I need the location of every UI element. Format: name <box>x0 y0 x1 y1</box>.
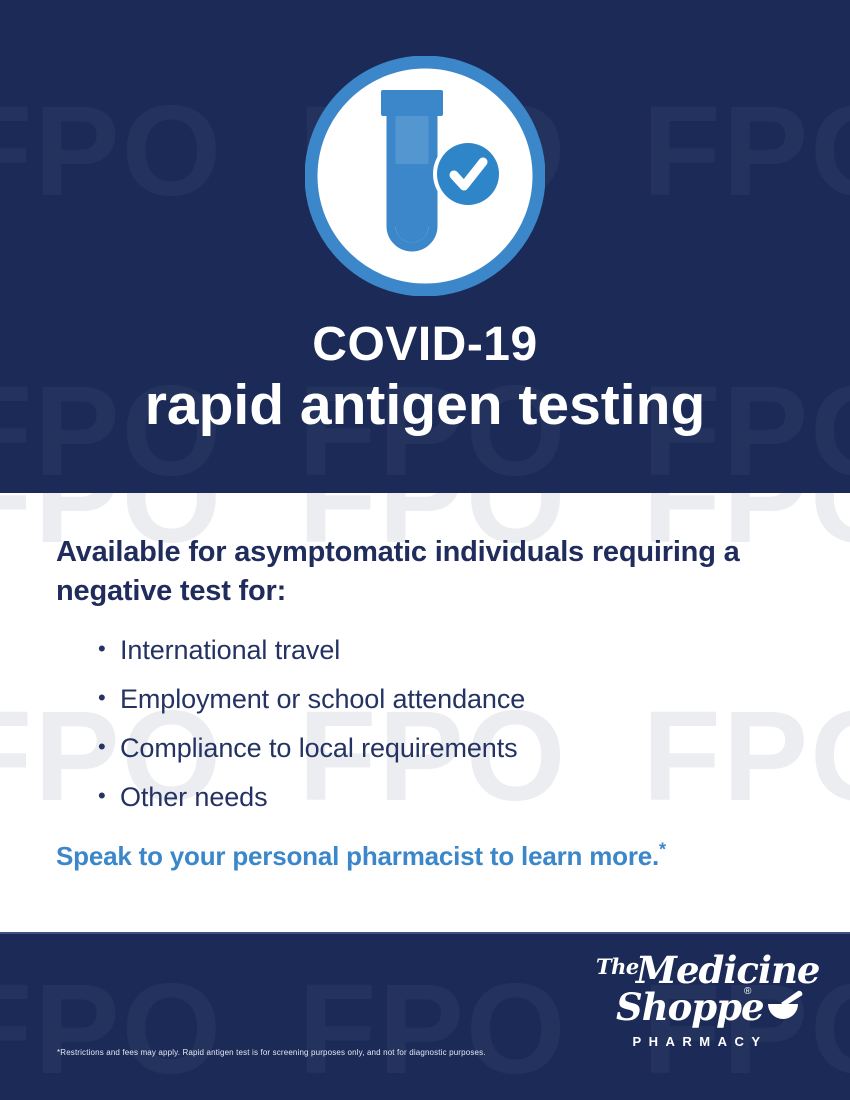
list-item: • International travel <box>98 637 794 664</box>
logo-pharmacy-text: PHARMACY <box>610 1034 790 1049</box>
benefits-list: • International travel • Employment or s… <box>56 637 794 811</box>
footer-section: FPO FPO FPO FPO FPO *Restrictions and fe… <box>0 932 850 1100</box>
page-title-line2: rapid antigen testing <box>145 372 706 439</box>
list-item: • Employment or school attendance <box>98 686 794 713</box>
disclaimer-text: *Restrictions and fees may apply. Rapid … <box>57 1048 486 1057</box>
list-item-label: Other needs <box>120 784 268 811</box>
logo-shoppe-text: Shoppe <box>616 985 764 1029</box>
registered-trademark-icon: ® <box>744 986 751 997</box>
test-tube-check-icon <box>305 56 545 296</box>
call-to-action: Speak to your personal pharmacist to lea… <box>56 841 794 872</box>
bullet-icon: • <box>98 784 120 808</box>
lede-text: Available for asymptomatic individuals r… <box>56 533 794 611</box>
header-section: FPO FPO FPO FPO FPO FPO FPO FPO FPO FPO <box>0 0 850 493</box>
body-section: FPO FPO FPO FPO FPO FPO FPO FPO FPO FPO … <box>0 493 850 932</box>
list-item-label: Compliance to local requirements <box>120 735 518 762</box>
list-item: • Compliance to local requirements <box>98 735 794 762</box>
page-title-line1: COVID-19 <box>145 320 706 370</box>
logo-the-text: The <box>596 954 639 979</box>
title-block: COVID-19 rapid antigen testing <box>145 320 706 440</box>
list-item: • Other needs <box>98 784 794 811</box>
list-item-label: International travel <box>120 637 340 664</box>
bullet-icon: • <box>98 735 120 759</box>
cta-label: Speak to your personal pharmacist to lea… <box>56 841 659 871</box>
bullet-icon: • <box>98 637 120 661</box>
cta-footnote-marker: * <box>659 840 666 860</box>
list-item-label: Employment or school attendance <box>120 686 525 713</box>
mortar-and-pestle-icon <box>765 990 805 1024</box>
bullet-icon: • <box>98 686 120 710</box>
poster-root: FPO FPO FPO FPO FPO FPO FPO FPO FPO FPO <box>0 0 850 1100</box>
brand-logo: The Medicine Shoppe ® PHARMACY <box>578 952 808 1032</box>
